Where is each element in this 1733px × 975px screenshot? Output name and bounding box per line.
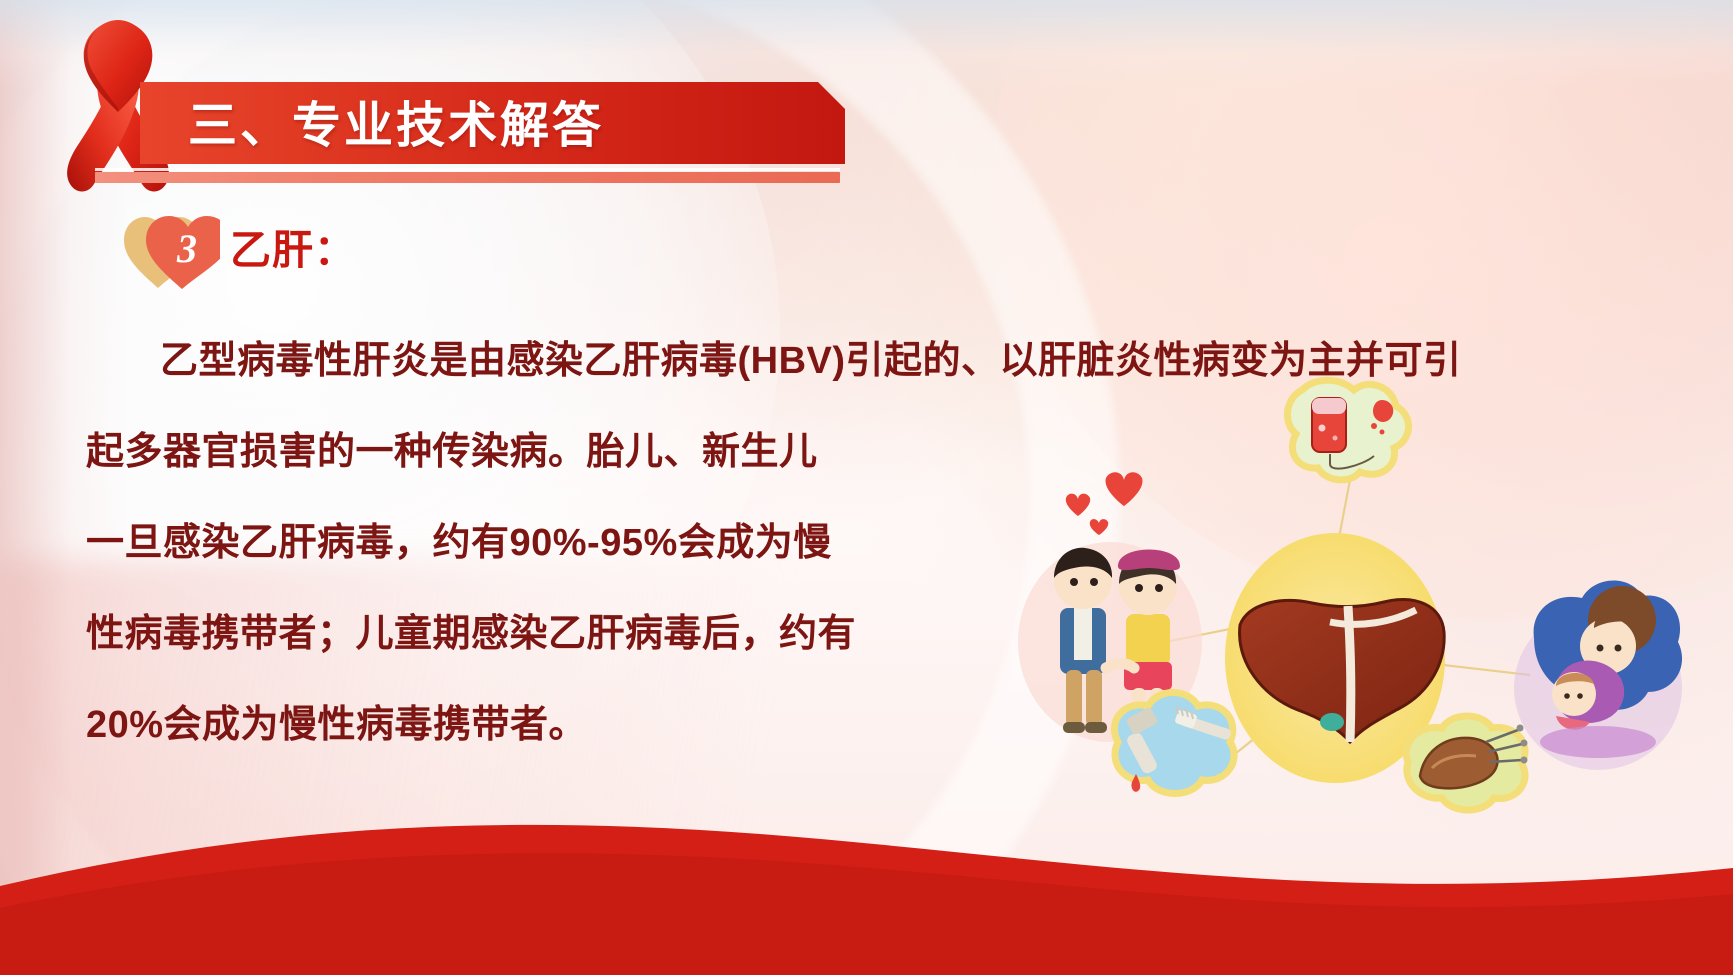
section-label: 乙肝： — [230, 222, 356, 278]
banner-underline — [95, 168, 840, 171]
body-line-5: 20%会成为慢性病毒携带者。 — [86, 680, 946, 771]
background-top-fade — [0, 0, 1733, 90]
blood-transfusion-icon — [1287, 380, 1408, 480]
tattoo-needle-icon — [1406, 716, 1527, 810]
mother-to-child-icon — [1514, 580, 1682, 770]
body-line-4: 性病毒携带者；儿童期感染乙肝病毒后，约有 — [86, 589, 946, 680]
razor-toothbrush-icon — [1114, 693, 1234, 794]
body-line-3: 一旦感染乙肝病毒，约有90%-95%会成为慢 — [86, 498, 946, 589]
transmission-routes-illustration — [930, 370, 1730, 820]
banner-underbar — [95, 172, 840, 183]
body-line-2: 起多器官损害的一种传染病。胎儿、新生儿 — [86, 407, 946, 498]
page-title: 三、专业技术解答 — [188, 92, 828, 160]
badge-number: 3 — [167, 225, 207, 273]
slide-root: 三、专业技术解答 3 乙肝： 乙型病毒性肝炎是由感染乙肝病毒(HBV)引起的、以… — [0, 0, 1733, 975]
